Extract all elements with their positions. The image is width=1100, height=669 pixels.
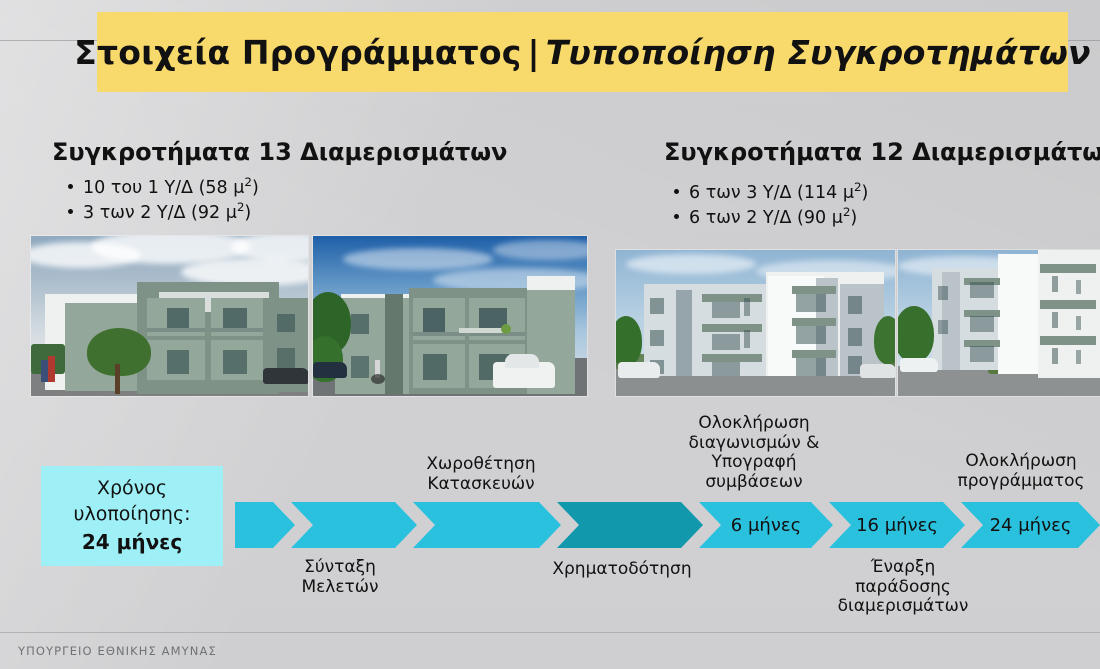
- duration-box: Χρόνος υλοποίησης: 24 μήνες: [41, 466, 223, 566]
- timeline-label-3: Χωροθέτηση Κατασκευών: [408, 455, 554, 494]
- apartment-render-4: [898, 250, 1100, 396]
- apartment-render-1: [31, 236, 308, 396]
- timeline-chevron-6[interactable]: [829, 502, 965, 548]
- timeline-label-6: Έναρξη παράδοσης διαμερισμάτων: [820, 558, 986, 617]
- apartment-render-3: [616, 250, 895, 396]
- section-heading-13-apartments: Συγκροτήματα 13 Διαμερισμάτων: [52, 138, 507, 166]
- timeline-chevron-5[interactable]: [699, 502, 833, 548]
- bottom-divider-line: [0, 632, 1100, 633]
- timeline-label-5: Ολοκλήρωση διαγωνισμών & Υπογραφή συμβάσ…: [672, 414, 836, 493]
- superscript: 2: [854, 180, 862, 194]
- duration-line-2: υλοποίησης:: [73, 503, 190, 525]
- bullet-list-12-apartments: 6 των 3 Υ/Δ (114 μ2) 6 των 2 Υ/Δ (90 μ2): [672, 180, 868, 231]
- timeline-label-4: Χρηματοδότηση: [540, 560, 704, 580]
- timeline-chevron-7[interactable]: [961, 502, 1100, 548]
- list-item: 10 του 1 Υ/Δ (58 μ2): [66, 175, 259, 200]
- timeline-chevron-band: 6 μήνες 16 μήνες 24 μήνες: [235, 502, 1100, 548]
- title-part-2: Τυποποίηση Συγκροτημάτων: [546, 33, 1091, 72]
- list-item: 3 των 2 Υ/Δ (92 μ2): [66, 200, 259, 225]
- superscript: 2: [244, 175, 252, 189]
- apartment-render-2: [313, 236, 587, 396]
- list-item: 6 των 3 Υ/Δ (114 μ2): [672, 180, 868, 205]
- title-part-1: Στοιχεία Προγράμματος: [74, 33, 521, 72]
- timeline-chevron-1[interactable]: [235, 502, 295, 548]
- timeline-label-2: Σύνταξη Μελετών: [270, 558, 410, 597]
- section-heading-12-apartments: Συγκροτήματα 12 Διαμερισμάτων: [664, 138, 1100, 166]
- duration-value: 24 μήνες: [82, 531, 182, 555]
- footer-organization: ΥΠΟΥΡΓΕΙΟ ΕΘΝΙΚΗΣ ΑΜΥΝΑΣ: [18, 644, 217, 658]
- timeline-chevron-3[interactable]: [413, 502, 561, 548]
- duration-line-1: Χρόνος: [97, 477, 167, 499]
- timeline-chevron-2[interactable]: [291, 502, 417, 548]
- title-separator: |: [522, 33, 546, 72]
- bullet-list-13-apartments: 10 του 1 Υ/Δ (58 μ2) 3 των 2 Υ/Δ (92 μ2): [66, 175, 259, 226]
- timeline-chevron-4[interactable]: [557, 502, 703, 548]
- slide-title-bar: Στοιχεία Προγράμματος|Τυποποίηση Συγκροτ…: [97, 12, 1068, 92]
- list-item: 6 των 2 Υ/Δ (90 μ2): [672, 205, 868, 230]
- timeline-label-7: Ολοκλήρωση προγράμματος: [942, 452, 1100, 491]
- page-title: Στοιχεία Προγράμματος|Τυποποίηση Συγκροτ…: [74, 33, 1090, 72]
